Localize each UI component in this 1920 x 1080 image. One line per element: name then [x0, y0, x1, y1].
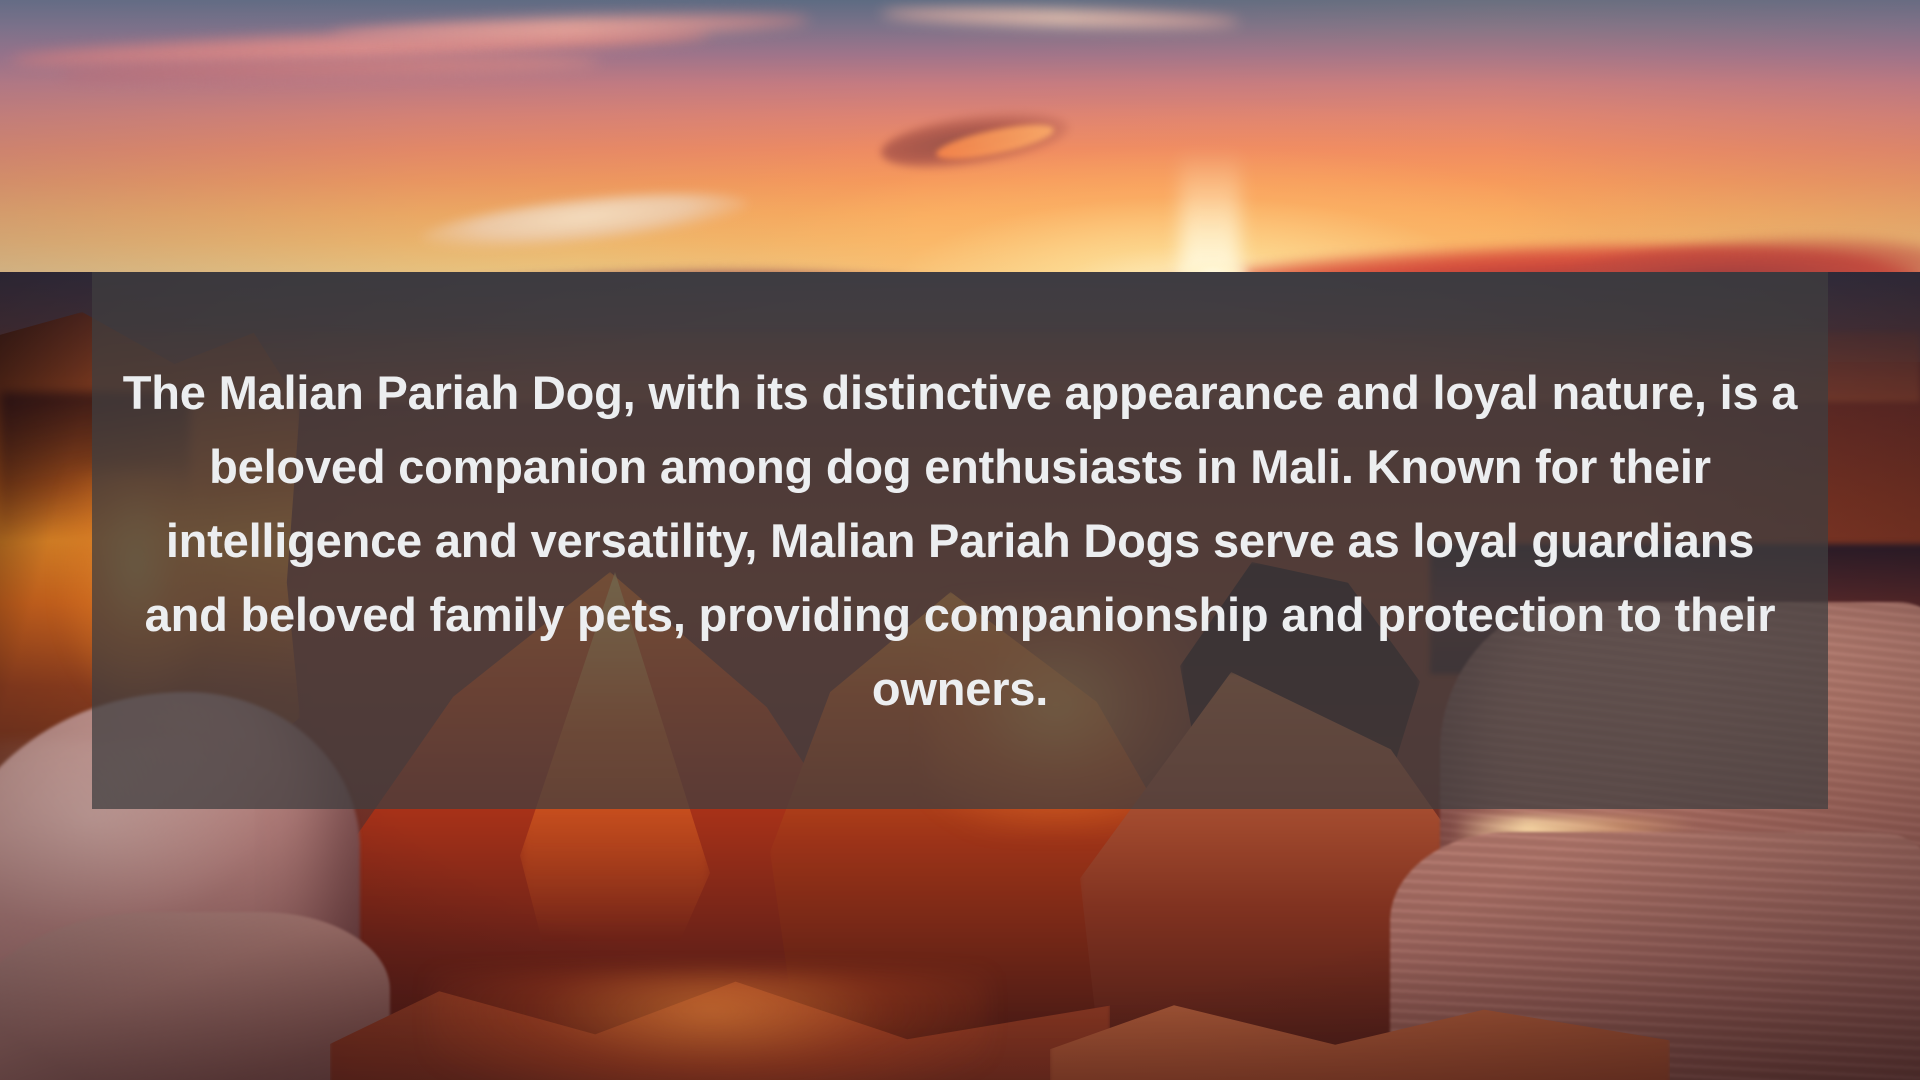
- text-overlay-panel: The Malian Pariah Dog, with its distinct…: [92, 272, 1828, 809]
- scene-container: The Malian Pariah Dog, with its distinct…: [0, 0, 1920, 1080]
- overlay-paragraph: The Malian Pariah Dog, with its distinct…: [120, 356, 1800, 726]
